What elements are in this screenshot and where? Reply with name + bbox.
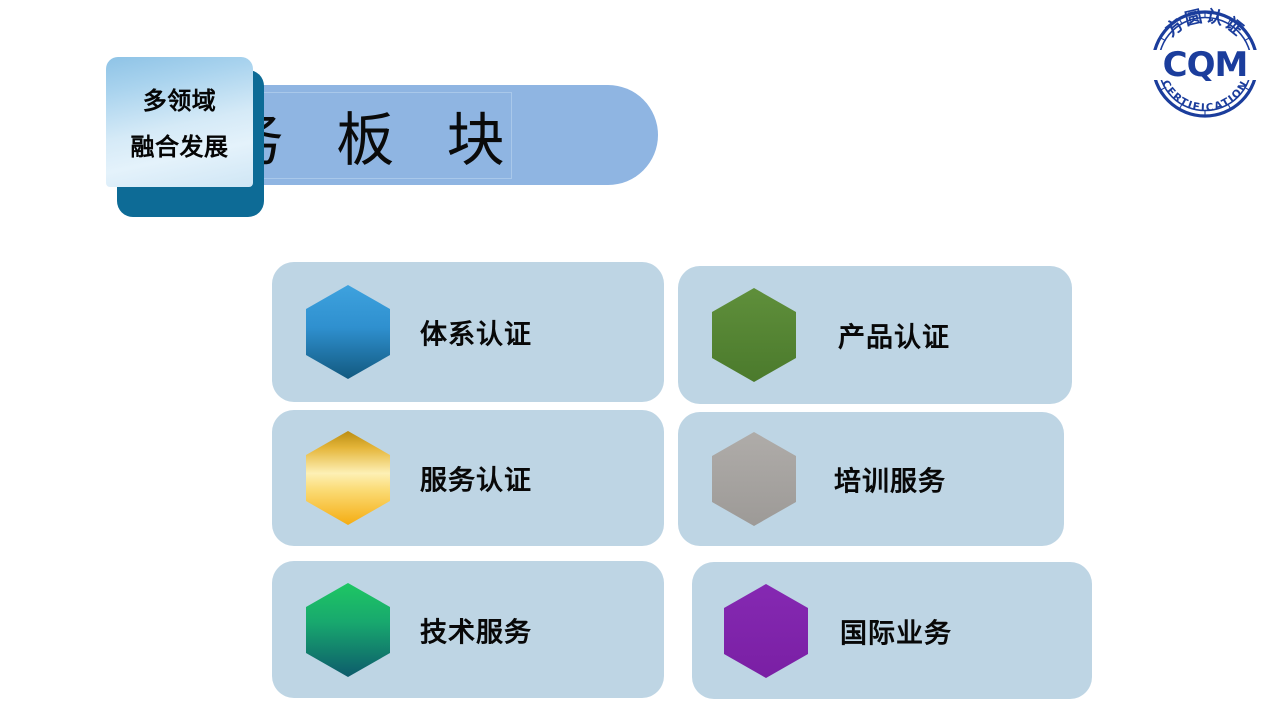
hexagon-icon [722,582,810,680]
segment-label: 技术服务 [420,610,532,649]
hexagon-icon [304,283,392,381]
segment-label: 培训服务 [834,460,946,499]
segment-label: 服务认证 [420,459,532,498]
segment-label: 体系认证 [420,313,532,352]
hexagon-icon [304,581,392,679]
segment-card-product-certification[interactable]: 产品认证 [678,266,1072,404]
segment-card-service-certification[interactable]: 服务认证 [272,410,664,546]
segment-card-system-certification[interactable]: 体系认证 [272,262,664,402]
hexagon-icon [710,286,798,384]
segment-card-international-business[interactable]: 国际业务 [692,562,1092,699]
hexagon-icon [710,430,798,528]
segment-label: 国际业务 [840,611,952,650]
segment-card-technical-service[interactable]: 技术服务 [272,561,664,698]
segment-card-training-service[interactable]: 培训服务 [678,412,1064,546]
hexagon-icon [304,429,392,527]
business-segments-grid: 体系认证 产品认证 [0,0,1280,720]
segment-label: 产品认证 [838,316,950,355]
